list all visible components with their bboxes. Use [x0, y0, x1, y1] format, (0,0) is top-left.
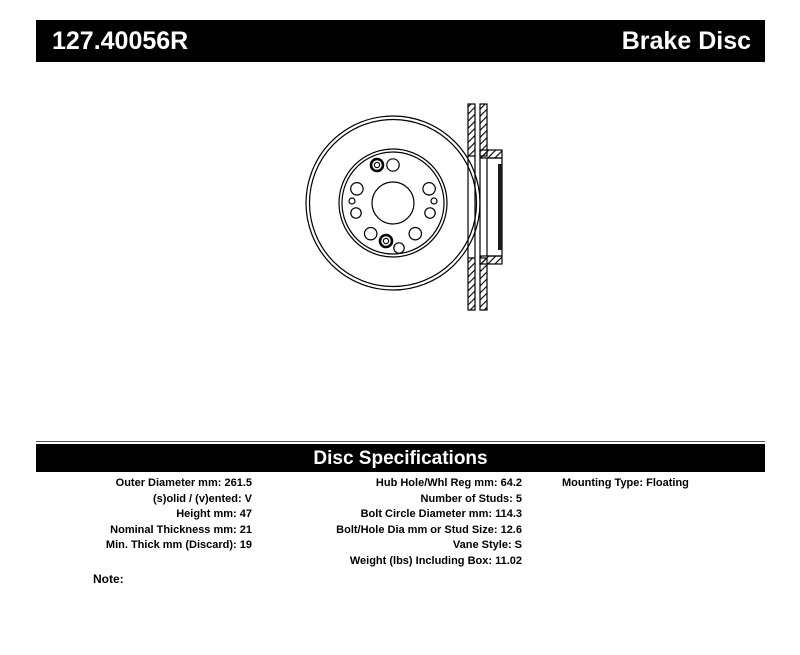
lug-hole — [365, 228, 377, 240]
spec-row: (s)olid / (v)ented: V — [36, 492, 252, 508]
spec-row: Mounting Type: Floating — [562, 476, 765, 492]
lower-outboard-plate — [468, 258, 475, 310]
rotor-outer-edge-inner-circle — [310, 120, 477, 287]
lug-hole-group — [351, 159, 436, 240]
small-hole — [349, 198, 355, 204]
spec-row: Min. Thick mm (Discard): 19 — [36, 538, 252, 554]
spec-row: Outer Diameter mm: 261.5 — [36, 476, 252, 492]
lug-hole — [351, 183, 363, 195]
spec-row: Bolt Circle Diameter mm: 114.3 — [252, 507, 522, 523]
lower-inboard-plate — [480, 258, 487, 310]
threaded-hole — [371, 159, 383, 171]
lug-hole — [387, 159, 399, 171]
spec-row: Bolt/Hole Dia mm or Stud Size: 12.6 — [252, 523, 522, 539]
spec-row: Vane Style: S — [252, 538, 522, 554]
upper-hat-flange — [480, 150, 502, 158]
spec-column-middle: Hub Hole/Whl Reg mm: 64.2 Number of Stud… — [252, 476, 522, 569]
small-hole — [425, 208, 435, 218]
threaded-hole-bore — [383, 238, 388, 243]
spec-row: Hub Hole/Whl Reg mm: 64.2 — [252, 476, 522, 492]
specifications-table: Outer Diameter mm: 261.5 (s)olid / (v)en… — [36, 476, 765, 569]
spec-section-divider — [36, 441, 765, 442]
rotor-body-outline — [468, 156, 502, 258]
hat-inner-wall-shading — [498, 164, 502, 250]
spec-column-right: Mounting Type: Floating — [522, 476, 765, 492]
lug-hole — [409, 228, 421, 240]
small-hole — [351, 208, 361, 218]
brake-disc-edge-cross-section-diagram — [454, 92, 524, 322]
hub-center-bore-circle — [372, 182, 414, 224]
spec-section-title: Disc Specifications — [313, 449, 487, 468]
part-number-label: 127.40056R — [52, 29, 188, 54]
product-type-label: Brake Disc — [622, 29, 751, 54]
technical-drawing-area — [36, 70, 765, 420]
upper-outboard-plate — [468, 104, 475, 156]
upper-inboard-plate — [480, 104, 487, 156]
threaded-hole-group — [371, 159, 392, 247]
note-label: Note: — [93, 572, 124, 586]
spec-row: Number of Studs: 5 — [252, 492, 522, 508]
lower-friction-plates — [468, 258, 487, 310]
small-hole — [394, 243, 404, 253]
small-hole-group — [349, 198, 437, 253]
lug-hole — [423, 183, 435, 195]
threaded-hole — [380, 235, 392, 247]
note-line: Note: — [36, 572, 765, 586]
threaded-hole-bore — [374, 162, 379, 167]
small-hole — [431, 198, 437, 204]
header-bar: 127.40056R Brake Disc — [36, 20, 765, 62]
spec-section-header-bar: Disc Specifications — [36, 444, 765, 472]
upper-friction-plates — [468, 104, 487, 156]
rotor-hat-outer-circle — [342, 152, 444, 254]
spec-row: Height mm: 47 — [36, 507, 252, 523]
spec-row: Weight (lbs) Including Box: 11.02 — [252, 554, 522, 570]
spec-column-left: Outer Diameter mm: 261.5 (s)olid / (v)en… — [36, 476, 252, 554]
spec-row: Nominal Thickness mm: 21 — [36, 523, 252, 539]
